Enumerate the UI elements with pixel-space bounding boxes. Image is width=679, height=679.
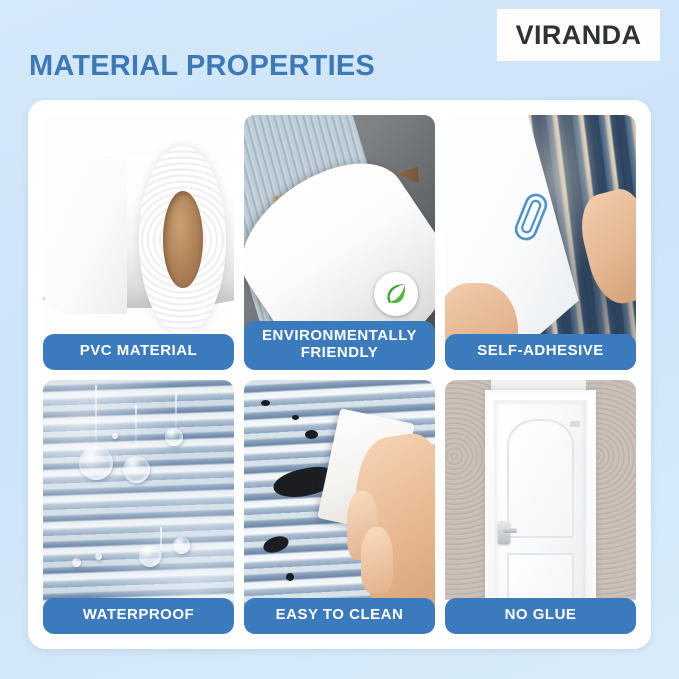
self-adhesive-image <box>445 115 636 370</box>
feature-grid: PVC MATERIAL <box>43 115 636 634</box>
feature-tile-environmentally-friendly[interactable]: ENVIRONMENTALLY FRIENDLY <box>244 115 435 370</box>
brand-name: VIRANDA <box>516 20 642 51</box>
feature-label-no-glue: NO GLUE <box>445 598 636 634</box>
feature-label-easy-to-clean: EASY TO CLEAN <box>244 598 435 634</box>
no-glue-image <box>445 380 636 635</box>
easy-to-clean-image <box>244 380 435 635</box>
feature-card: PVC MATERIAL <box>28 100 651 649</box>
feature-label-line-1: ENVIRONMENTALLY <box>248 328 431 345</box>
feature-label-pvc-material: PVC MATERIAL <box>43 334 234 370</box>
feature-label-line-2: FRIENDLY <box>248 345 431 362</box>
leaf-badge <box>374 272 418 316</box>
leaf-icon <box>382 280 410 308</box>
waterproof-image <box>43 380 234 635</box>
feature-tile-waterproof[interactable]: WATERPROOF <box>43 380 234 635</box>
feature-label-self-adhesive: SELF-ADHESIVE <box>445 334 636 370</box>
feature-tile-self-adhesive[interactable]: SELF-ADHESIVE <box>445 115 636 370</box>
feature-label-waterproof: WATERPROOF <box>43 598 234 634</box>
page-title: MATERIAL PROPERTIES <box>29 50 375 83</box>
feature-tile-no-glue[interactable]: NO GLUE <box>445 380 636 635</box>
brand-badge: VIRANDA <box>497 9 660 61</box>
pvc-roll-image <box>43 115 234 370</box>
feature-tile-easy-to-clean[interactable]: EASY TO CLEAN <box>244 380 435 635</box>
feature-tile-pvc-material[interactable]: PVC MATERIAL <box>43 115 234 370</box>
feature-label-environmentally-friendly: ENVIRONMENTALLY FRIENDLY <box>244 321 435 370</box>
